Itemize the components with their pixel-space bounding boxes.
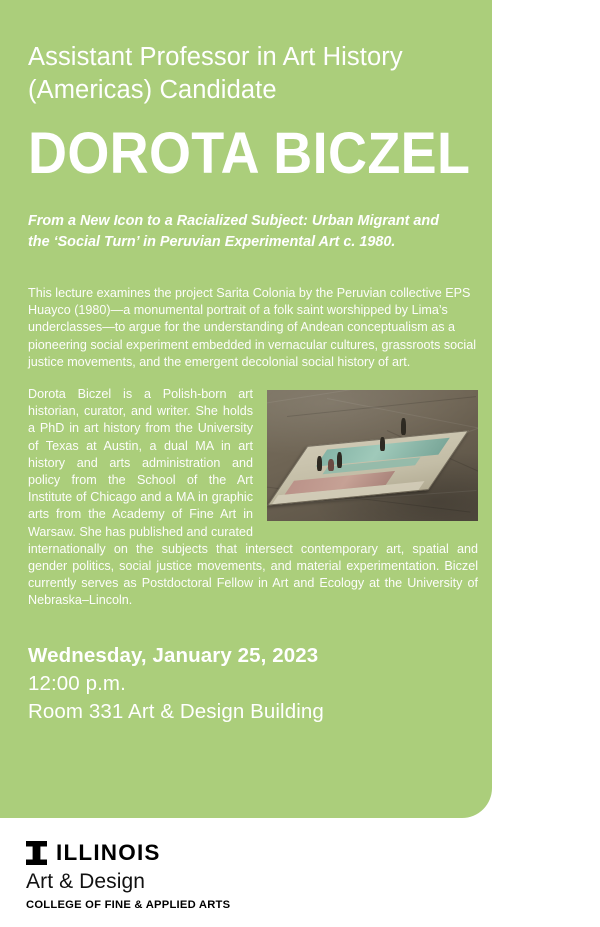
photo-figure-person <box>328 459 334 471</box>
talk-title: From a New Icon to a Racialized Subject:… <box>28 183 458 253</box>
bio-block: Dorota Biczel is a Polish-born art histo… <box>28 371 478 610</box>
illinois-wordmark: ILLINOIS <box>56 841 161 865</box>
unit-name: Art & Design <box>26 869 230 895</box>
event-time: 12:00 p.m. <box>28 670 478 698</box>
college-name: COLLEGE OF FINE & APPLIED ARTS <box>26 898 230 913</box>
artwork-photo <box>267 390 478 521</box>
position-heading: Assistant Professor in Art History (Amer… <box>28 0 478 107</box>
photo-figure-person <box>337 452 342 468</box>
event-details: Wednesday, January 25, 2023 12:00 p.m. R… <box>28 610 478 726</box>
block-i-logo-icon <box>26 841 47 865</box>
photo-figure-person <box>317 456 322 471</box>
footer-logo-lockup: ILLINOIS Art & Design COLLEGE OF FINE & … <box>26 840 230 913</box>
event-location: Room 331 Art & Design Building <box>28 698 478 726</box>
candidate-name: DOROTA BICZEL <box>28 107 447 183</box>
logo-row: ILLINOIS <box>26 840 230 866</box>
poster-green-panel: Assistant Professor in Art History (Amer… <box>0 0 492 818</box>
event-date: Wednesday, January 25, 2023 <box>28 642 478 670</box>
photo-figure-person <box>401 418 406 435</box>
photo-figure-person <box>380 437 385 451</box>
abstract-text: This lecture examines the project Sarita… <box>28 253 478 371</box>
